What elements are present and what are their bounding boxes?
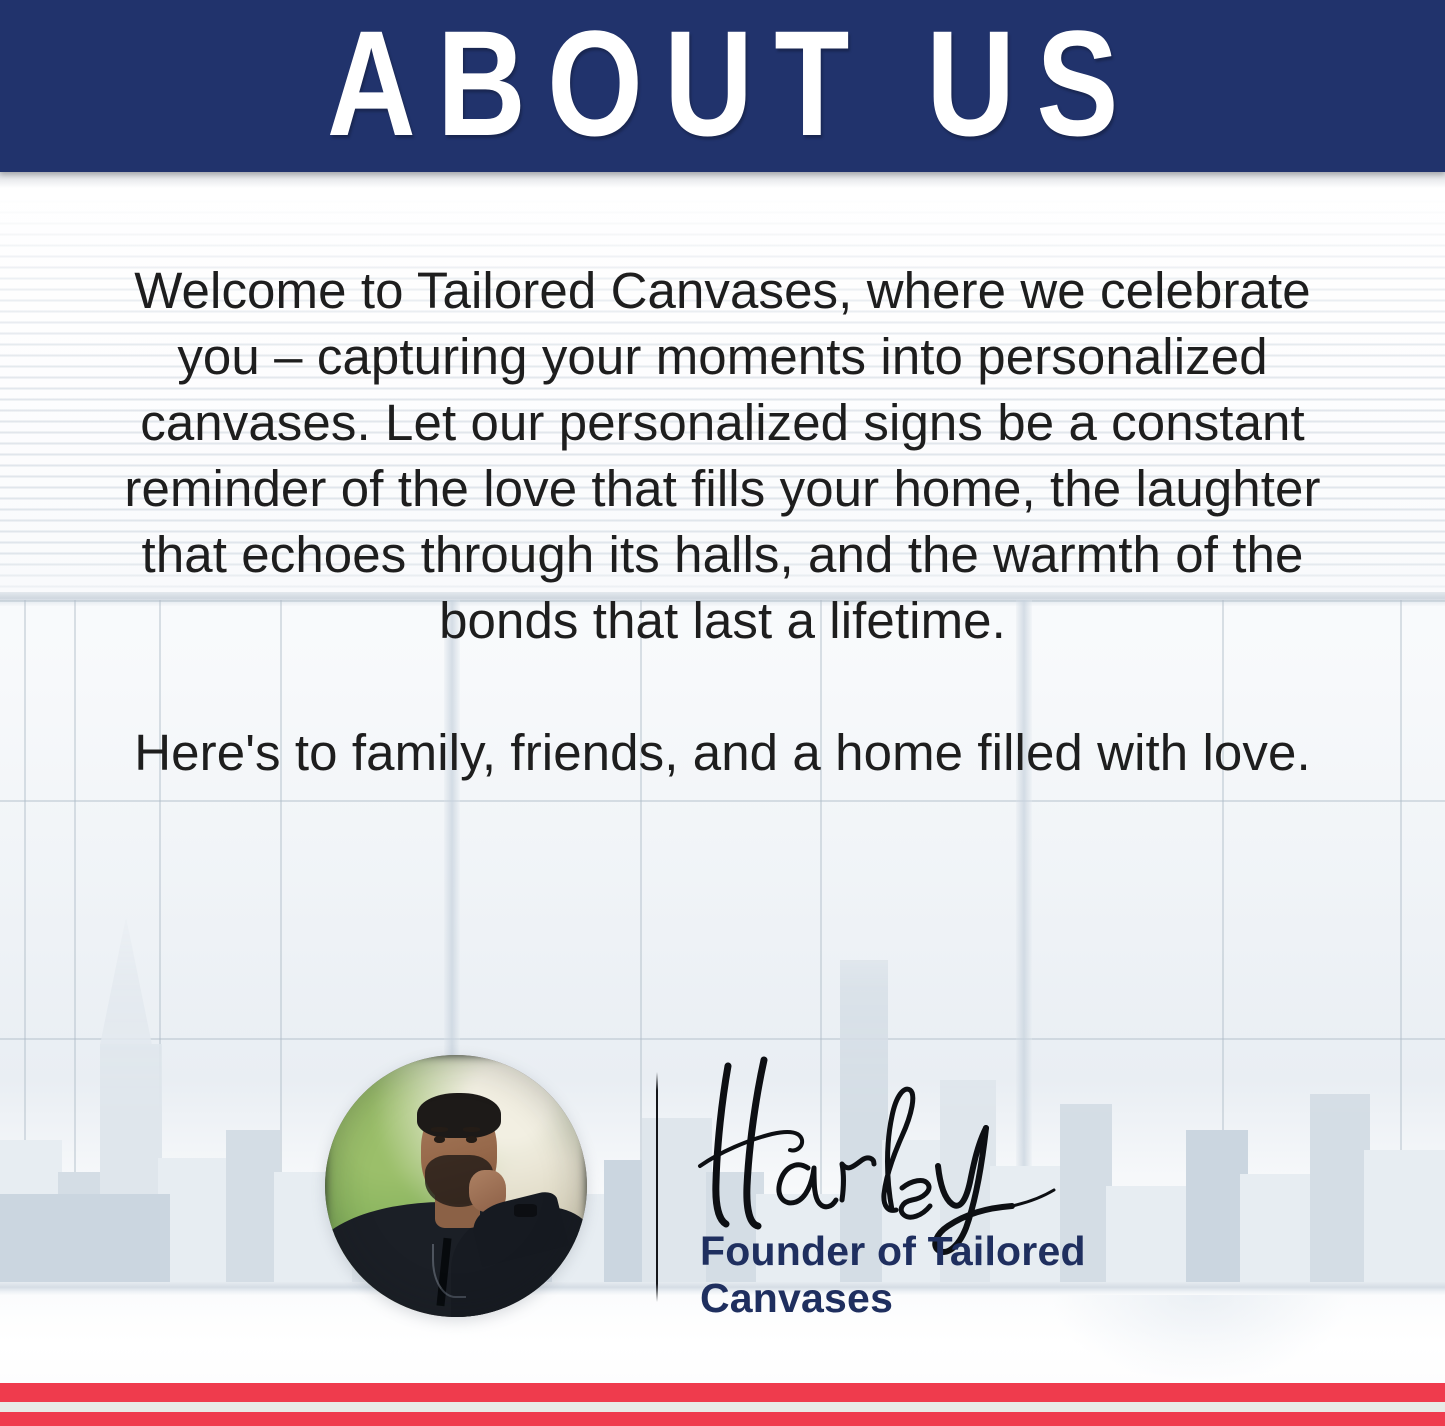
paragraph-spacer bbox=[0, 654, 1445, 720]
signature-divider bbox=[656, 1072, 658, 1302]
signature-role-line-2: Canvases bbox=[700, 1275, 1170, 1322]
footer-bar-gap bbox=[0, 1402, 1445, 1412]
page-title: ABOUT US bbox=[305, 8, 1139, 158]
signature-role-line-1: Founder of Tailored bbox=[700, 1228, 1170, 1275]
page-header: ABOUT US bbox=[0, 0, 1445, 172]
footer-bar-primary bbox=[0, 1383, 1445, 1402]
signature-harley bbox=[686, 1048, 1106, 1253]
about-us-page: ABOUT US Welcome to Tailored Canvases, w… bbox=[0, 0, 1445, 1426]
avatar bbox=[325, 1055, 587, 1317]
footer-bar-secondary bbox=[0, 1412, 1445, 1426]
about-paragraph-2: Here's to family, friends, and a home fi… bbox=[0, 720, 1445, 786]
about-copy: Welcome to Tailored Canvases, where we c… bbox=[0, 258, 1445, 786]
window-rail-middle bbox=[0, 800, 1445, 802]
header-drop-shadow bbox=[0, 172, 1445, 188]
about-paragraph-1: Welcome to Tailored Canvases, where we c… bbox=[0, 258, 1445, 654]
signature-role: Founder of Tailored Canvases bbox=[700, 1228, 1170, 1322]
